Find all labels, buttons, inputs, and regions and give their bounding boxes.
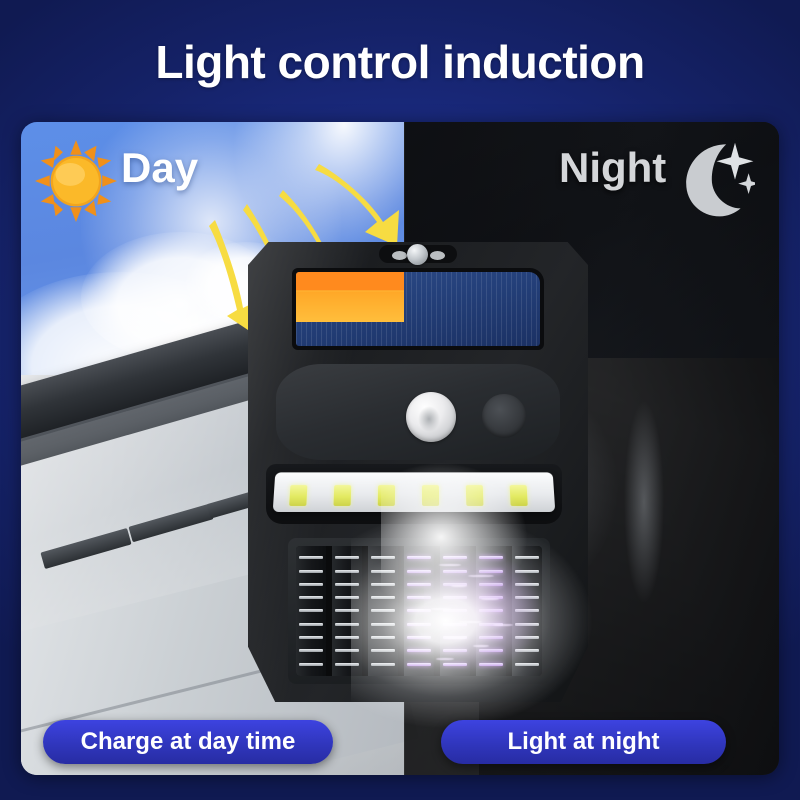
uv-arc [451, 585, 467, 587]
grill-rung [479, 583, 502, 586]
grill-rung [299, 636, 322, 639]
grill-rung [443, 556, 466, 559]
grill-rung [299, 623, 322, 626]
grill-column [512, 546, 542, 676]
led-light-strip [273, 472, 556, 512]
grill-rung [299, 556, 322, 559]
product-photo-panel: Day [21, 122, 779, 775]
grill-rung [371, 583, 394, 586]
grill-rung [371, 596, 394, 599]
grill-rung [371, 623, 394, 626]
grill-rung [335, 663, 358, 666]
grill-rung [371, 649, 394, 652]
grill-rung [479, 636, 502, 639]
grill-rung [407, 609, 430, 612]
pill-label: Light at night [508, 728, 660, 756]
screw-tab-left [392, 251, 407, 260]
grill-rung [479, 649, 502, 652]
grill-rung [299, 609, 322, 612]
grill-rung [371, 570, 394, 573]
grill-rung [371, 556, 394, 559]
light-at-night-button[interactable]: Light at night [441, 720, 726, 764]
grill-rung [407, 663, 430, 666]
grill-rung [335, 570, 358, 573]
grill-rung [407, 636, 430, 639]
sun-icon [35, 140, 117, 222]
night-label: Night [559, 144, 666, 192]
grill-rung [515, 649, 538, 652]
grill-rung [515, 609, 538, 612]
grill-rung [407, 556, 430, 559]
led-chip [333, 485, 351, 506]
grill-rung [335, 596, 358, 599]
grill-column [476, 546, 506, 676]
led-strip-slot [266, 464, 562, 524]
grill-column [332, 546, 362, 676]
grill-rung [407, 570, 430, 573]
led-chip [378, 485, 395, 506]
screw-tab-right [430, 251, 445, 260]
grill-rung [335, 583, 358, 586]
grill-rung [515, 636, 538, 639]
grill-rung [479, 556, 502, 559]
grill-column [368, 546, 398, 676]
grill-rung [515, 556, 538, 559]
grill-rung [407, 649, 430, 652]
grill-rung [443, 570, 466, 573]
grill-rung [371, 663, 394, 666]
uv-arc [468, 575, 494, 577]
grill-rung [515, 596, 538, 599]
grill-column [404, 546, 434, 676]
product-poster: Light control induction [0, 0, 800, 800]
page-title: Light control induction [0, 34, 800, 90]
pir-motion-sensor-dome [406, 392, 456, 442]
led-chip [466, 485, 484, 506]
grill-rung [335, 556, 358, 559]
pill-label: Charge at day time [81, 728, 296, 756]
uv-arc [493, 624, 513, 626]
led-chip [289, 485, 307, 506]
grill-rung [299, 596, 322, 599]
uv-arc [481, 598, 499, 600]
grill-rung [443, 663, 466, 666]
grill-rung [479, 663, 502, 666]
mounting-screw [407, 244, 428, 265]
grill-rung [443, 609, 466, 612]
grill-rung [479, 609, 502, 612]
grill-rung [443, 596, 466, 599]
grill-rung [335, 649, 358, 652]
pir-fresnel-detail [418, 406, 440, 432]
solar-panel [296, 272, 540, 346]
grill-rung [407, 623, 430, 626]
grill-rung [299, 570, 322, 573]
grill-rung [299, 649, 322, 652]
day-label: Day [121, 144, 198, 192]
sensor-band [276, 364, 560, 460]
grill-rung [515, 663, 538, 666]
charge-at-day-time-button[interactable]: Charge at day time [43, 720, 333, 764]
grill-rung [371, 636, 394, 639]
led-chip [422, 485, 439, 506]
grill-column [296, 546, 326, 676]
uv-arc [473, 645, 489, 647]
grill-rung [407, 596, 430, 599]
grill-rung [371, 609, 394, 612]
grill-rung [299, 663, 322, 666]
moon-icon [659, 138, 755, 222]
zapper-grill-recess [288, 538, 550, 684]
grill-rung [407, 583, 430, 586]
grill-rung [515, 583, 538, 586]
solar-motion-sensor-lamp [248, 242, 588, 702]
grill-rung [443, 649, 466, 652]
grill-rung [299, 583, 322, 586]
grill-rung [479, 570, 502, 573]
grill-rung [335, 623, 358, 626]
solar-panel-frame [292, 268, 544, 350]
solar-panel-sun-reflection-inner [296, 292, 404, 322]
grill-rung [443, 623, 466, 626]
mosquito-zapper-grill [296, 546, 542, 676]
grill-rung [335, 609, 358, 612]
uv-arc [436, 658, 454, 660]
uv-arc [444, 637, 466, 639]
grill-rung [335, 636, 358, 639]
secondary-lens [482, 394, 526, 438]
grill-rung [515, 623, 538, 626]
grill-rung [515, 570, 538, 573]
led-chip [510, 485, 528, 506]
